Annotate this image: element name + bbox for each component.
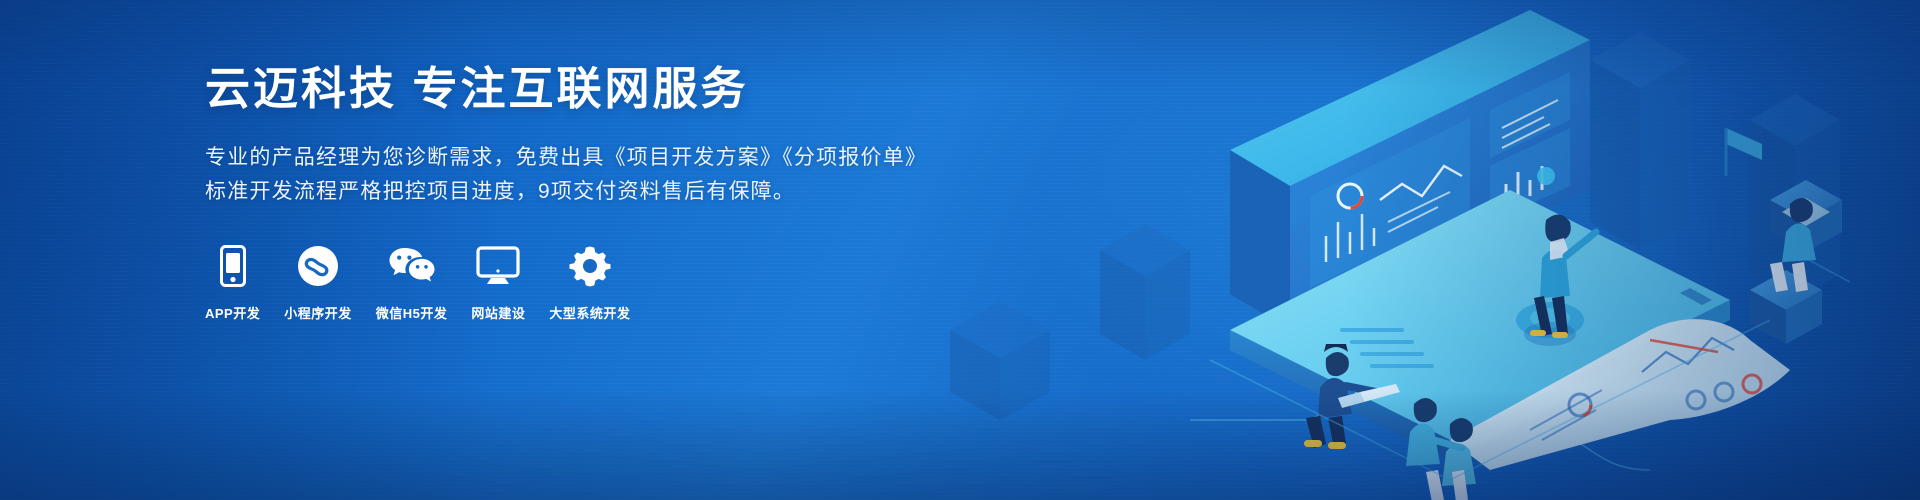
monitor-icon [472, 243, 524, 289]
service-label: 微信H5开发 [376, 303, 448, 322]
service-item-website[interactable]: 网站建设 [471, 243, 525, 322]
service-list: APP开发 小程序开发 [205, 243, 925, 322]
gear-icon [564, 243, 616, 289]
service-label: 小程序开发 [284, 303, 352, 322]
banner-copy: 云迈科技 专注互联网服务 专业的产品经理为您诊断需求，免费出具《项目开发方案》《… [205, 62, 925, 322]
wechat-icon [386, 243, 438, 289]
service-item-wechat-h5[interactable]: 微信H5开发 [376, 243, 448, 322]
page-title: 云迈科技 专注互联网服务 [205, 62, 925, 115]
service-item-miniprogram[interactable]: 小程序开发 [284, 243, 352, 322]
isometric-illustration [890, 0, 1920, 500]
subtitle-line-2: 标准开发流程严格把控项目进度，9项交付资料售后有保障。 [205, 175, 925, 209]
service-label: APP开发 [205, 303, 260, 322]
service-item-app[interactable]: APP开发 [205, 243, 260, 322]
service-label: 网站建设 [471, 303, 525, 322]
service-item-large-system[interactable]: 大型系统开发 [549, 243, 630, 322]
subtitle-line-1: 专业的产品经理为您诊断需求，免费出具《项目开发方案》《分项报价单》 [205, 141, 925, 175]
mini-program-icon [292, 243, 344, 289]
service-label: 大型系统开发 [549, 303, 630, 322]
hero-banner: 云迈科技 专注互联网服务 专业的产品经理为您诊断需求，免费出具《项目开发方案》《… [0, 0, 1920, 500]
mobile-phone-icon [207, 243, 259, 289]
